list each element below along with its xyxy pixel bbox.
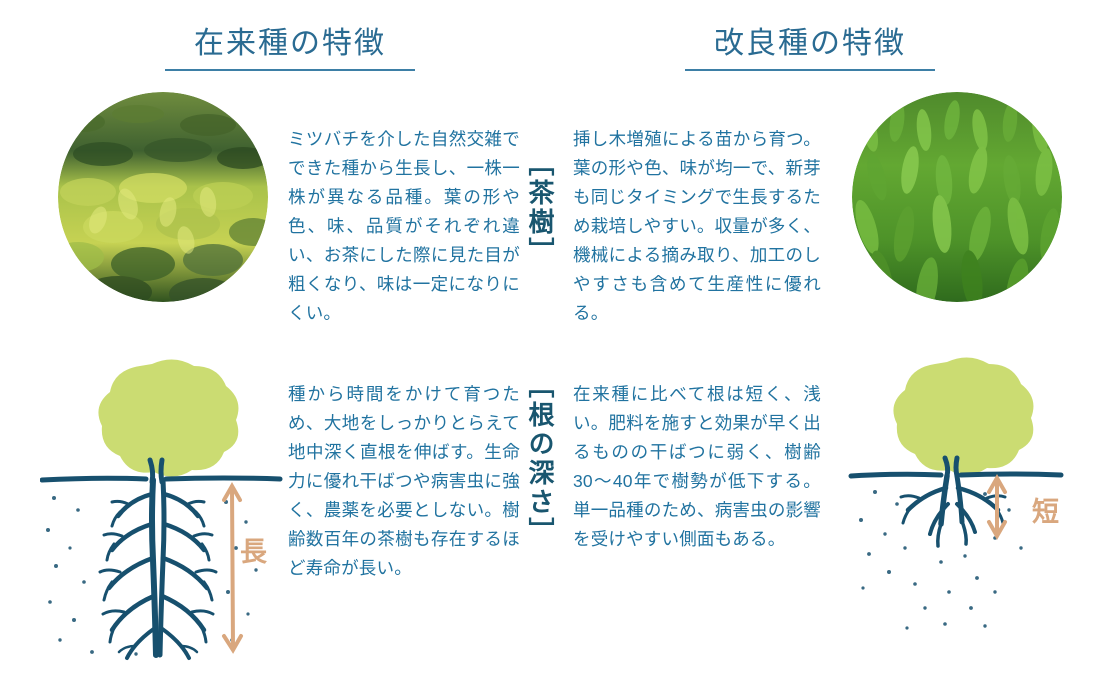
text-tea-tree-improved: 挿し木増殖による苗から育つ。葉の形や色、味が均一で、新芽も同じタイミングで生長す… — [573, 125, 821, 328]
heading-improved-variety: 改良種の特徴 — [685, 18, 935, 71]
arrow-label-short: 短 — [1032, 490, 1059, 529]
heading-native-underline — [165, 69, 415, 71]
canopy-shape — [98, 359, 238, 476]
canopy-shape — [893, 357, 1033, 474]
text-root-native: 種から時間をかけて育つため、大地をしっかりとらえて地中深く直根を伸ばす。生命力に… — [288, 380, 520, 583]
text-tea-tree-native: ミツバチを介した自然交雑でできた種から生長し、一株一株が異なる品種。葉の形や色、… — [288, 125, 520, 328]
center-label-tea-tree: ［茶樹］ — [527, 150, 553, 266]
arrow-label-long: 長 — [240, 530, 267, 569]
heading-native-variety-text: 在来種の特徴 — [194, 27, 386, 60]
tea-field-photo-uniform — [852, 92, 1062, 302]
heading-improved-variety-text: 改良種の特徴 — [714, 27, 906, 60]
infographic-page: 在来種の特徴 改良種の特徴 — [0, 0, 1100, 689]
text-root-improved: 在来種に比べて根は短く、浅い。肥料を施すと効果が早く出るものの干ばつに弱く、樹齢… — [573, 380, 821, 554]
heading-improved-underline — [685, 69, 935, 71]
deep-root-diagram — [40, 352, 290, 662]
heading-native-variety: 在来種の特徴 — [165, 18, 415, 71]
center-label-root-depth: ［根の深さ］ — [527, 372, 553, 546]
tea-field-photo-mixed — [58, 92, 268, 302]
